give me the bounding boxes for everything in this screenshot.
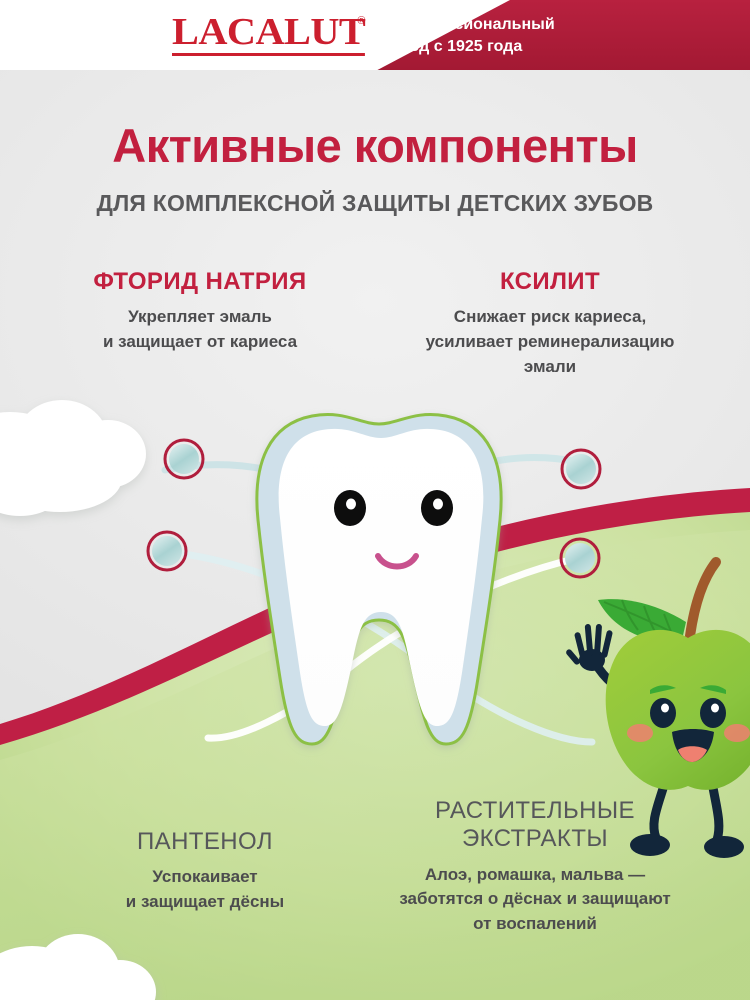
ingredient-xylitol: КСИЛИТ Снижает риск кариеса, усиливает р… — [385, 268, 715, 379]
ingredient-fluoride: ФТОРИД НАТРИЯ Укрепляет эмаль и защищает… — [35, 268, 365, 355]
ingredient-extracts-title: РАСТИТЕЛЬНЫЕ ЭКСТРАКТЫ — [370, 797, 700, 854]
orbit-node-right-top — [562, 450, 600, 488]
ingredient-xylitol-desc-line3: эмали — [385, 355, 715, 380]
ingredient-xylitol-desc-line1: Снижает риск кариеса, — [385, 305, 715, 330]
header-tagline: Профессиональный уход с 1925 года — [392, 14, 722, 57]
brand-logo-text: LACALUT — [172, 13, 365, 56]
ingredient-fluoride-desc-line1: Укрепляет эмаль — [35, 305, 365, 330]
ingredient-panthenol-title: ПАНТЕНОЛ — [45, 828, 365, 856]
ingredient-panthenol-desc: Успокаивает и защищает дёсны — [45, 865, 365, 914]
header-tagline-line1: Профессиональный — [392, 14, 722, 36]
ingredient-xylitol-desc: Снижает риск кариеса, усиливает реминера… — [385, 305, 715, 379]
page-title: Активные компоненты — [0, 118, 750, 173]
brand-logo[interactable]: LACALUT ® — [172, 13, 365, 56]
orbit-node-right-bottom — [561, 539, 599, 577]
orbit-node-left-bottom — [148, 532, 186, 570]
header-tagline-line2: уход с 1925 года — [392, 36, 722, 58]
ingredient-panthenol-desc-line2: и защищает дёсны — [45, 890, 365, 915]
ingredient-xylitol-title: КСИЛИТ — [385, 268, 715, 296]
ingredient-extracts-title-line1: РАСТИТЕЛЬНЫЕ — [370, 797, 700, 825]
ingredient-panthenol-desc-line1: Успокаивает — [45, 865, 365, 890]
ingredient-xylitol-desc-line2: усиливает реминерализацию — [385, 330, 715, 355]
cloud-top-left — [0, 400, 146, 516]
ingredient-fluoride-desc-line2: и защищает от кариеса — [35, 330, 365, 355]
ingredient-panthenol: ПАНТЕНОЛ Успокаивает и защищает дёсны — [45, 828, 365, 915]
ingredient-extracts: РАСТИТЕЛЬНЫЕ ЭКСТРАКТЫ Алоэ, ромашка, ма… — [370, 797, 700, 937]
poster-root: LACALUT ® Профессиональный уход с 1925 г… — [0, 0, 750, 1000]
ingredient-extracts-desc-line2: заботятся о дёснах и защищают — [370, 887, 700, 912]
apple-body — [606, 630, 750, 790]
ingredient-fluoride-desc: Укрепляет эмаль и защищает от кариеса — [35, 305, 365, 354]
ingredient-extracts-desc: Алоэ, ромашка, мальва — заботятся о дёсн… — [370, 863, 700, 937]
apple-blush-right — [724, 724, 750, 742]
ingredient-fluoride-title: ФТОРИД НАТРИЯ — [35, 268, 365, 296]
orbit-node-left-top — [165, 440, 203, 478]
header-bar: LACALUT ® Профессиональный уход с 1925 г… — [0, 0, 750, 70]
page-subtitle: ДЛЯ КОМПЛЕКСНОЙ ЗАЩИТЫ ДЕТСКИХ ЗУБОВ — [0, 190, 750, 217]
ingredient-extracts-desc-line3: от воспалений — [370, 912, 700, 937]
apple-blush-left — [627, 724, 653, 742]
ingredient-extracts-desc-line1: Алоэ, ромашка, мальва — — [370, 863, 700, 888]
ingredient-extracts-title-line2: ЭКСТРАКТЫ — [370, 825, 700, 853]
